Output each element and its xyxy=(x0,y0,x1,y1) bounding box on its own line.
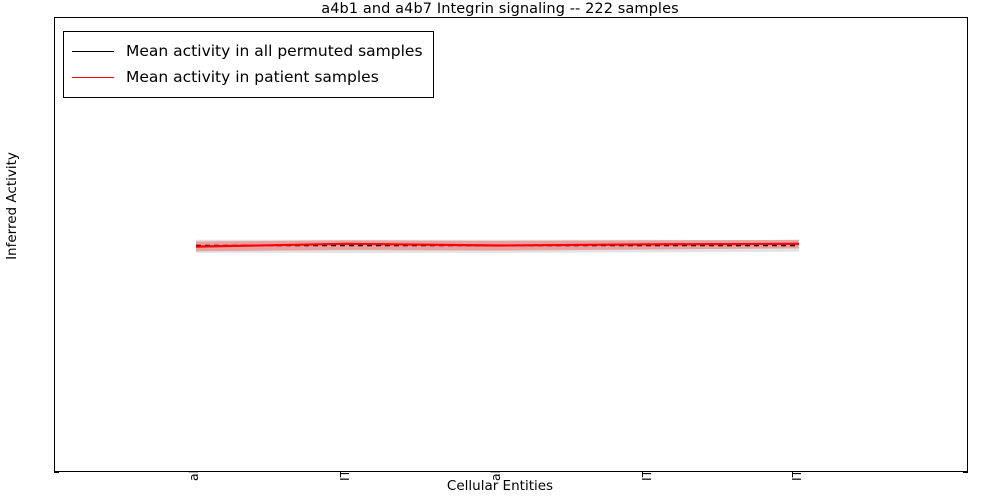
figure-canvas: a4b1 and a4b7 Integrin signaling -- 222 … xyxy=(0,0,1000,500)
chart-title: a4b1 and a4b7 Integrin signaling -- 222 … xyxy=(0,1,1000,17)
legend-item-permuted[interactable]: Mean activity in all permuted samples xyxy=(72,38,423,64)
legend-label-patient: Mean activity in patient samples xyxy=(126,68,379,86)
legend-item-patient[interactable]: Mean activity in patient samples xyxy=(72,64,423,90)
legend-line-swatch-permuted-icon xyxy=(72,51,114,52)
y-tick-mark-m4 xyxy=(54,472,59,473)
y-tick-mark-right-m4 xyxy=(963,472,968,473)
y-axis-label: Inferred Activity xyxy=(4,116,20,296)
legend-label-permuted: Mean activity in all permuted samples xyxy=(126,42,423,60)
chart-legend: Mean activity in all permuted samples Me… xyxy=(63,31,434,98)
legend-line-swatch-patient-icon xyxy=(72,77,114,78)
x-axis-label: Cellular Entities xyxy=(0,478,1000,494)
